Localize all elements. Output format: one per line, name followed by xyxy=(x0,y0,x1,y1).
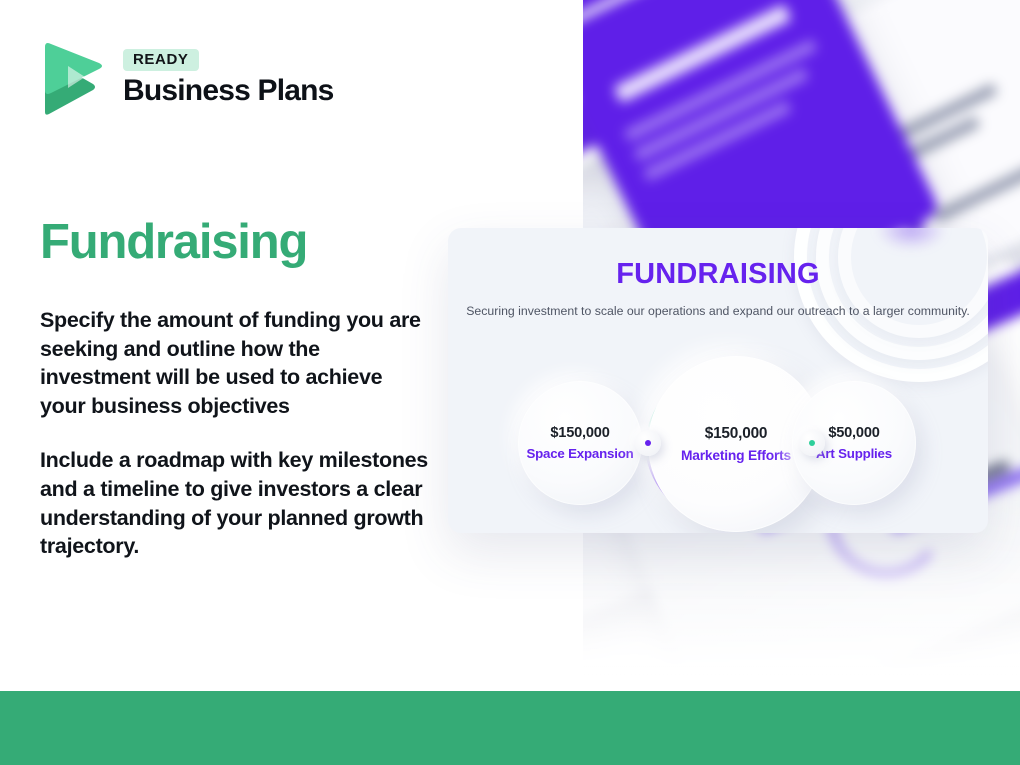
connector-node-right xyxy=(799,430,825,456)
slide-root: READY Business Plans Fundraising Specify… xyxy=(0,0,1020,765)
page-title: Fundraising xyxy=(40,216,307,270)
paragraph-2: Include a roadmap with key milestones an… xyxy=(40,446,430,560)
body-copy: Specify the amount of funding you are se… xyxy=(40,306,430,561)
allocation-label: Marketing Efforts xyxy=(681,448,791,463)
allocation-amount: $50,000 xyxy=(828,425,879,441)
funding-allocation-chart: $150,000 Space Expansion $150,000 Market… xyxy=(448,354,988,524)
connector-node-left xyxy=(635,430,661,456)
brand-text: READY Business Plans xyxy=(123,49,334,107)
allocation-amount: $150,000 xyxy=(550,425,609,441)
allocation-amount: $150,000 xyxy=(705,425,768,443)
ready-badge: READY xyxy=(123,49,199,71)
paragraph-1: Specify the amount of funding you are se… xyxy=(40,306,430,420)
fundraising-preview-card[interactable]: FUNDRAISING Securing investment to scale… xyxy=(448,228,988,533)
card-title: FUNDRAISING xyxy=(448,258,988,291)
card-subtitle: Securing investment to scale our operati… xyxy=(448,303,988,321)
brand-name: Business Plans xyxy=(123,75,334,107)
allocation-label: Space Expansion xyxy=(526,446,633,461)
footer-bar xyxy=(0,691,1020,765)
allocation-circle-1[interactable]: $150,000 Space Expansion xyxy=(518,381,642,505)
allocation-label: Art Supplies xyxy=(816,446,892,461)
play-triangle-logo-icon xyxy=(41,40,105,116)
brand-logo: READY Business Plans xyxy=(41,40,334,116)
